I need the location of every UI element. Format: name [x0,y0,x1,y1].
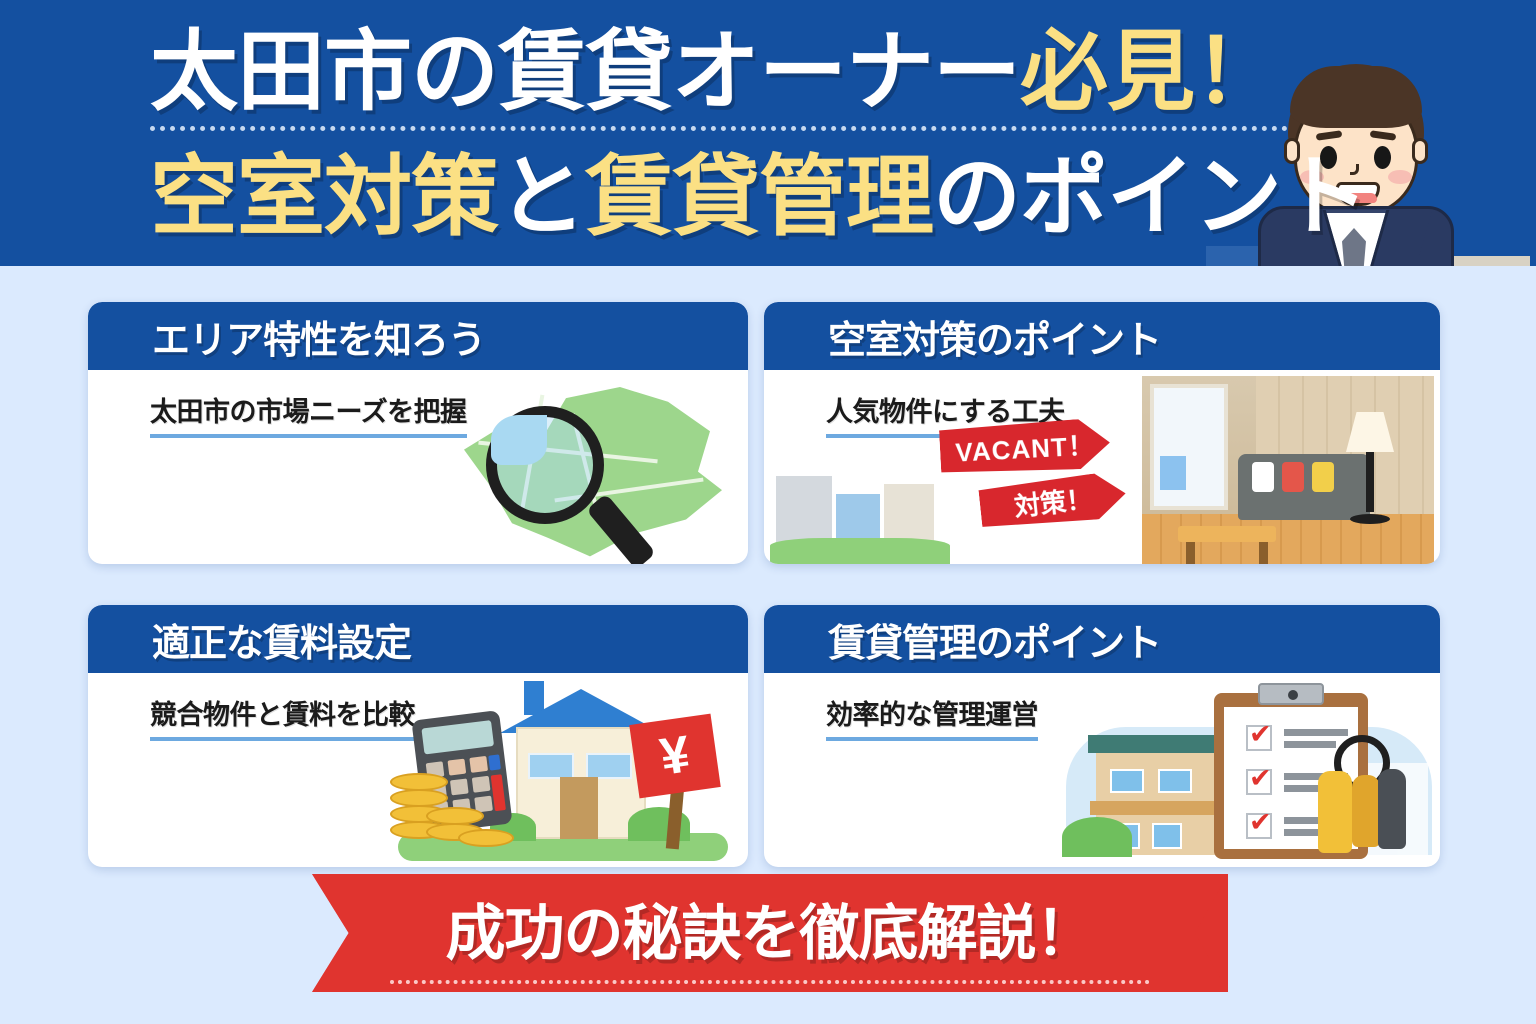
yen-symbol: ¥ [656,724,693,787]
key-gold [1318,771,1352,853]
bush-icon [1062,817,1132,857]
key-bronze [1352,775,1380,847]
room-window [1150,384,1228,510]
vacant-tag-text: VACANT！ [954,425,1095,469]
card-3-header: 適正な賃料設定 [88,605,748,673]
map-with-magnifier-illustration [434,376,734,560]
chimney-shape [524,681,544,715]
yen-sign-board: ¥ [629,714,721,799]
card-2-body: 人気物件にする工夫 [764,370,1440,564]
house-window-2 [586,753,632,779]
card-area-characteristics[interactable]: エリア特性を知ろう 太田市の市場ニーズを把握 [88,302,748,564]
title-line-2-yellow-a: 空室対策 [150,147,498,246]
coin-stack-4 [390,773,448,791]
management-illustration [1046,681,1436,867]
checkbox-2[interactable] [1246,769,1272,795]
card-1-label: 太田市の市場ニーズを把握 [150,390,467,438]
title-line-2-white-a: と [498,147,585,246]
card-1-header: エリア特性を知ろう [88,302,748,370]
card-4-body: 効率的な管理運営 [764,673,1440,867]
card-4-heading: 賃貸管理のポイント [828,612,1161,667]
title-line-2: 空室対策と賃貸管理のポイント [150,131,1330,241]
header-title-block: 太田市の賃貸オーナー必見！ 空室対策と賃貸管理のポイント [150,14,1330,241]
title-line-2-yellow-b: 賃貸管理 [585,147,933,246]
city-skyline-illustration [770,460,950,564]
blush-right [1388,170,1412,184]
house-door [560,777,598,839]
countermeasure-tag-text: 対策！ [1012,479,1093,524]
header-banner: 太田市の賃貸オーナー必見！ 空室対策と賃貸管理のポイント [0,0,1536,266]
ribbon-divider [390,980,1150,984]
infographic-canvas: 太田市の賃貸オーナー必見！ 空室対策と賃貸管理のポイント エリア特性を知ろう 太… [0,0,1536,1024]
card-1-heading: エリア特性を知ろう [152,309,485,364]
coin-stack-6 [426,807,484,825]
ear-right [1412,138,1428,164]
floor-lamp-icon [1340,412,1400,524]
key-dark [1378,769,1406,849]
rent-comparison-illustration: ¥ [388,687,738,865]
card-1-body: 太田市の市場ニーズを把握 [88,370,748,564]
card-3-label: 競合物件と賃料を比較 [150,693,415,741]
title-line-1-yellow: 必見！ [1020,22,1281,121]
title-line-2-white-b: のポイント [933,147,1368,246]
magnifier-lens [486,406,604,524]
title-line-1: 太田市の賃貸オーナー必見！ [150,14,1330,116]
checkbox-1[interactable] [1246,725,1272,751]
house-window-1 [528,753,574,779]
card-2-header: 空室対策のポイント [764,302,1440,370]
card-4-label: 効率的な管理運営 [826,693,1038,741]
coin-stack-3 [390,789,448,807]
checkbox-3[interactable] [1246,813,1272,839]
card-rental-management[interactable]: 賃貸管理のポイント 効率的な管理運営 [764,605,1440,867]
title-divider [150,126,1288,131]
card-4-header: 賃貸管理のポイント [764,605,1440,673]
eye-right [1374,146,1391,169]
card-grid: エリア特性を知ろう 太田市の市場ニーズを把握 空室対策のポイント [88,302,1448,860]
living-room-illustration [1142,376,1434,564]
card-2-heading: 空室対策のポイント [828,309,1161,364]
card-rent-setting[interactable]: 適正な賃料設定 競合物件と賃料を比較 [88,605,748,867]
coin-single [458,829,514,847]
card-3-body: 競合物件と賃料を比較 [88,673,748,867]
card-3-heading: 適正な賃料設定 [152,612,411,667]
bottom-ribbon-banner: 成功の秘訣を徹底解説！ [312,874,1228,992]
coffee-table-icon [1178,526,1276,542]
card-vacancy-measures[interactable]: 空室対策のポイント 人気物件にする工夫 [764,302,1440,564]
title-line-1-white: 太田市の賃貸オーナー [150,22,1020,121]
countermeasure-tag: 対策！ [978,470,1128,531]
keys-icon [1310,735,1430,857]
ribbon-text: 成功の秘訣を徹底解説！ [446,885,1095,972]
